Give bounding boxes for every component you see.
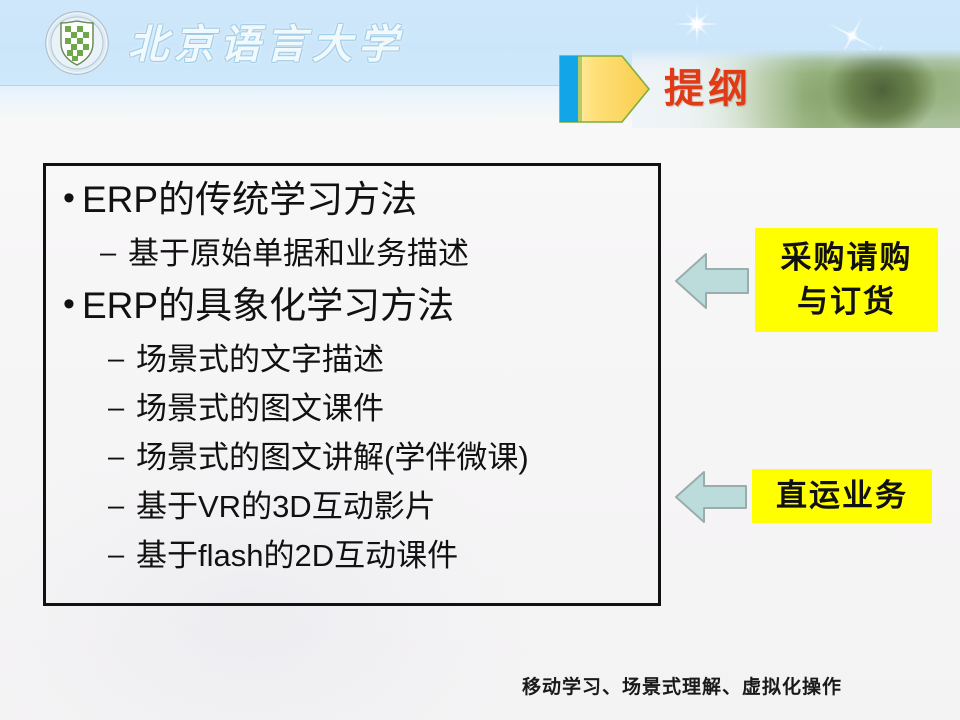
list-item: – 场景式的图文讲解(学伴微课) <box>108 435 660 484</box>
bullet-dash-icon: – <box>108 386 136 431</box>
list-item: – 场景式的图文课件 <box>108 386 660 435</box>
callout-direct-shipment: 直运业务 <box>672 466 932 528</box>
callout-line-1: 直运业务 <box>776 469 908 523</box>
callout-line-2: 与订货 <box>797 280 896 324</box>
bullet-dot-icon: • <box>56 174 82 222</box>
list-item: – 基于flash的2D互动课件 <box>108 533 660 582</box>
list-item: – 基于VR的3D互动影片 <box>108 484 660 533</box>
callout-purchase-requisition: 采购请购 与订货 <box>672 228 938 334</box>
bullet-dash-icon: – <box>108 484 136 529</box>
university-name: 北京语言大学 <box>128 20 388 70</box>
left-arrow-icon <box>672 466 750 533</box>
list-item-label: 基于VR的3D互动影片 <box>136 484 436 530</box>
title-banner: 提纲 <box>556 50 960 128</box>
list-item-label: 场景式的文字描述 <box>136 337 384 383</box>
list-item: – 场景式的文字描述 <box>108 337 660 386</box>
list-item-label: 基于flash的2D互动课件 <box>136 533 458 579</box>
university-crest-icon <box>44 10 110 76</box>
list-item-label: 场景式的图文课件 <box>136 386 384 432</box>
outline-list: • ERP的传统学习方法 – 基于原始单据和业务描述 • ERP的具象化学习方法… <box>46 164 660 606</box>
left-arrow-icon <box>672 246 752 321</box>
list-item: • ERP的具象化学习方法 <box>56 280 660 337</box>
banner-pentagon-tag <box>556 54 652 124</box>
callout-box: 直运业务 <box>752 469 932 523</box>
page-title: 提纲 <box>664 56 864 122</box>
list-item-label: 场景式的图文讲解(学伴微课) <box>136 435 529 481</box>
list-item-label: ERP的传统学习方法 <box>82 174 417 226</box>
callout-line-1: 采购请购 <box>781 236 913 280</box>
bullet-dash-icon: – <box>108 533 136 578</box>
list-item: • ERP的传统学习方法 <box>56 174 660 231</box>
callout-box: 采购请购 与订货 <box>755 228 938 332</box>
bullet-dot-icon: • <box>56 280 82 328</box>
bullet-dash-icon: – <box>108 337 136 382</box>
list-item-label: ERP的具象化学习方法 <box>82 280 454 332</box>
list-item-label: 基于原始单据和业务描述 <box>128 231 469 277</box>
list-item: – 基于原始单据和业务描述 <box>100 231 660 280</box>
bullet-dash-icon: – <box>100 231 128 276</box>
slide-canvas: 北京语言大学 提纲 • <box>0 0 960 720</box>
footer-note: 移动学习、场景式理解、虚拟化操作 <box>522 672 942 699</box>
bullet-dash-icon: – <box>108 435 136 480</box>
